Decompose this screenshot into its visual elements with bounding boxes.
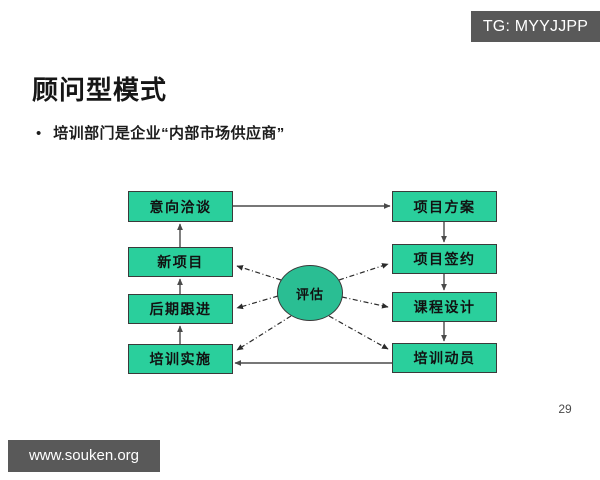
node-kecheng-sheji[interactable]: 课程设计 (392, 292, 497, 322)
site-watermark-badge: www.souken.org (8, 440, 160, 472)
diagram-edges (0, 0, 600, 480)
page-number: 29 (552, 402, 578, 416)
node-label: 意向洽谈 (150, 197, 212, 217)
edge-pinggu-to-kecheng (342, 297, 388, 307)
node-houqi-genjin[interactable]: 后期跟进 (128, 294, 233, 324)
edge-pinggu-to-dongyuan (329, 316, 388, 349)
node-peixun-shishi[interactable]: 培训实施 (128, 344, 233, 374)
node-xiangmu-qianyue[interactable]: 项目签约 (392, 244, 497, 274)
node-label: 项目方案 (414, 197, 476, 217)
process-flow-diagram: 意向洽谈 新项目 后期跟进 培训实施 项目方案 项目签约 课程设计 培训动员 评… (0, 0, 600, 480)
edge-pinggu-to-xinxiangmu (237, 266, 281, 280)
node-label: 后期跟进 (150, 299, 212, 319)
node-peixun-dongyuan[interactable]: 培训动员 (392, 343, 497, 373)
slide-canvas: TG: MYYJJPP 顾问型模式 • 培训部门是企业“内部市场供应商” (0, 0, 600, 480)
edge-pinggu-to-shishi (237, 316, 291, 350)
node-yixiang-qiatan[interactable]: 意向洽谈 (128, 191, 233, 222)
node-label: 培训实施 (150, 349, 212, 369)
edge-pinggu-to-genjin (237, 296, 278, 308)
node-label: 课程设计 (414, 297, 476, 317)
edge-pinggu-to-qianyue (339, 264, 388, 280)
node-label: 项目签约 (414, 249, 476, 269)
node-xiangmu-fangan[interactable]: 项目方案 (392, 191, 497, 222)
node-label: 培训动员 (414, 348, 476, 368)
node-label: 新项目 (157, 252, 204, 272)
node-label: 评估 (296, 284, 324, 303)
node-xin-xiangmu[interactable]: 新项目 (128, 247, 233, 277)
node-pinggu[interactable]: 评估 (277, 265, 343, 321)
